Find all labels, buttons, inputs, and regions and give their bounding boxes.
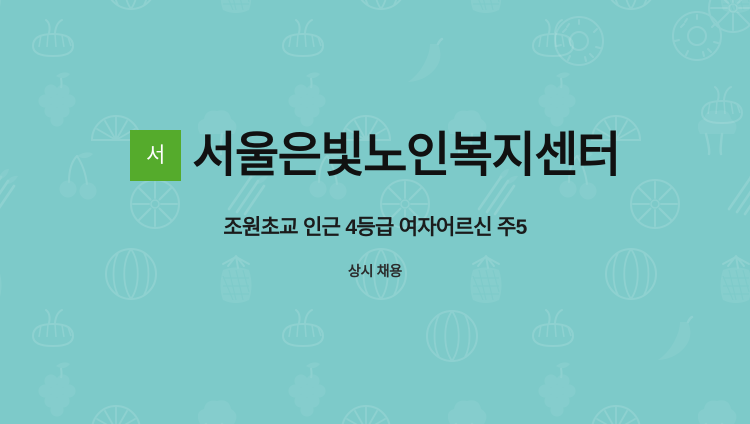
banner-content: 서 서울은빛노인복지센터 조원초교 인근 4등급 여자어르신 주5 상시 채용 xyxy=(0,0,750,424)
organization-title-row: 서 서울은빛노인복지센터 xyxy=(130,130,620,181)
organization-initial-badge: 서 xyxy=(130,130,181,181)
hiring-status: 상시 채용 xyxy=(348,262,402,280)
organization-name: 서울은빛노인복지센터 xyxy=(192,131,620,181)
job-posting-banner: 서 서울은빛노인복지센터 조원초교 인근 4등급 여자어르신 주5 상시 채용 xyxy=(0,0,750,424)
job-title: 조원초교 인근 4등급 여자어르신 주5 xyxy=(223,215,526,241)
